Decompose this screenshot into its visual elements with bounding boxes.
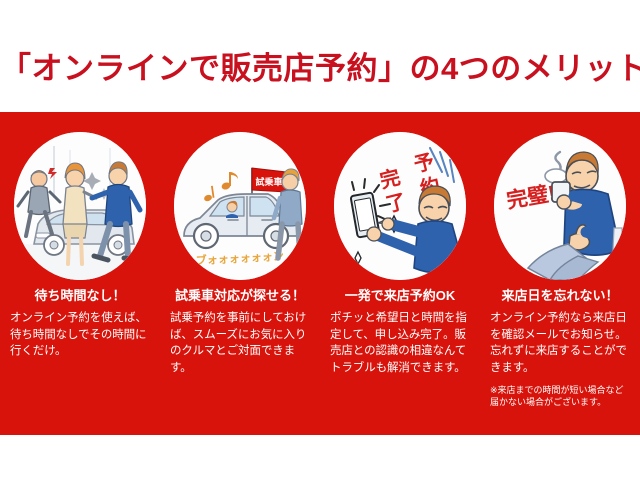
red-banner: 待ち時間なし！ オンライン予約を使えば、待ち時間なしでその時間に行くだけ。 試乗…: [0, 112, 640, 435]
illustration-wrap-3: 予 約 完 了: [334, 132, 466, 280]
test-drive-car-illustration: 試乗車: [174, 132, 306, 280]
benefit-footnote: ※来店までの時間が短い場合など届かない場合がございます。: [486, 384, 634, 408]
illustration-wrap-1: [14, 132, 146, 280]
smartphone-booking-illustration: 予 約 完 了: [334, 132, 466, 280]
benefit-column-one-shot-booking: 予 約 完 了: [320, 112, 480, 435]
benefit-heading: 試乗車対応が探せる！: [175, 288, 305, 304]
benefit-body: 試乗予約を事前にしておけば、スムーズにお気に入りのクルマとご対面できます。: [166, 310, 314, 376]
showroom-waiting-illustration: [14, 132, 146, 280]
relaxing-man-illustration: 完璧!!: [494, 132, 626, 280]
benefit-column-never-forget: 完璧!!: [480, 112, 640, 435]
benefit-column-no-wait: 待ち時間なし！ オンライン予約を使えば、待ち時間なしでその時間に行くだけ。: [0, 112, 160, 435]
flag-label-text: 試乗車: [255, 176, 282, 187]
benefit-column-test-drive: 試乗車: [160, 112, 320, 435]
benefit-columns: 待ち時間なし！ オンライン予約を使えば、待ち時間なしでその時間に行くだけ。 試乗…: [0, 112, 640, 435]
benefit-body: ポチッと希望日と時間を指定して、申し込み完了。販売店との認識の相違なんてトラブル…: [326, 310, 474, 376]
illustration-wrap-4: 完璧!!: [494, 132, 626, 280]
footer-whitespace: [0, 435, 640, 480]
svg-text:M: M: [616, 246, 624, 257]
benefit-heading: 一発で来店予約OK: [345, 288, 456, 304]
benefit-body: オンライン予約なら来店日を確認メールでお知らせ。忘れずに来店することができます。: [486, 310, 634, 376]
benefit-heading: 来店日を忘れない！: [501, 288, 618, 304]
page-title: 「オンラインで販売店予約」の4つのメリット: [0, 46, 640, 92]
benefit-heading: 待ち時間なし！: [34, 288, 125, 304]
illustration-wrap-2: 試乗車: [174, 132, 306, 280]
promotional-poster: 「オンラインで販売店予約」の4つのメリット: [0, 0, 640, 480]
benefit-body: オンライン予約を使えば、待ち時間なしでその時間に行くだけ。: [6, 310, 154, 360]
